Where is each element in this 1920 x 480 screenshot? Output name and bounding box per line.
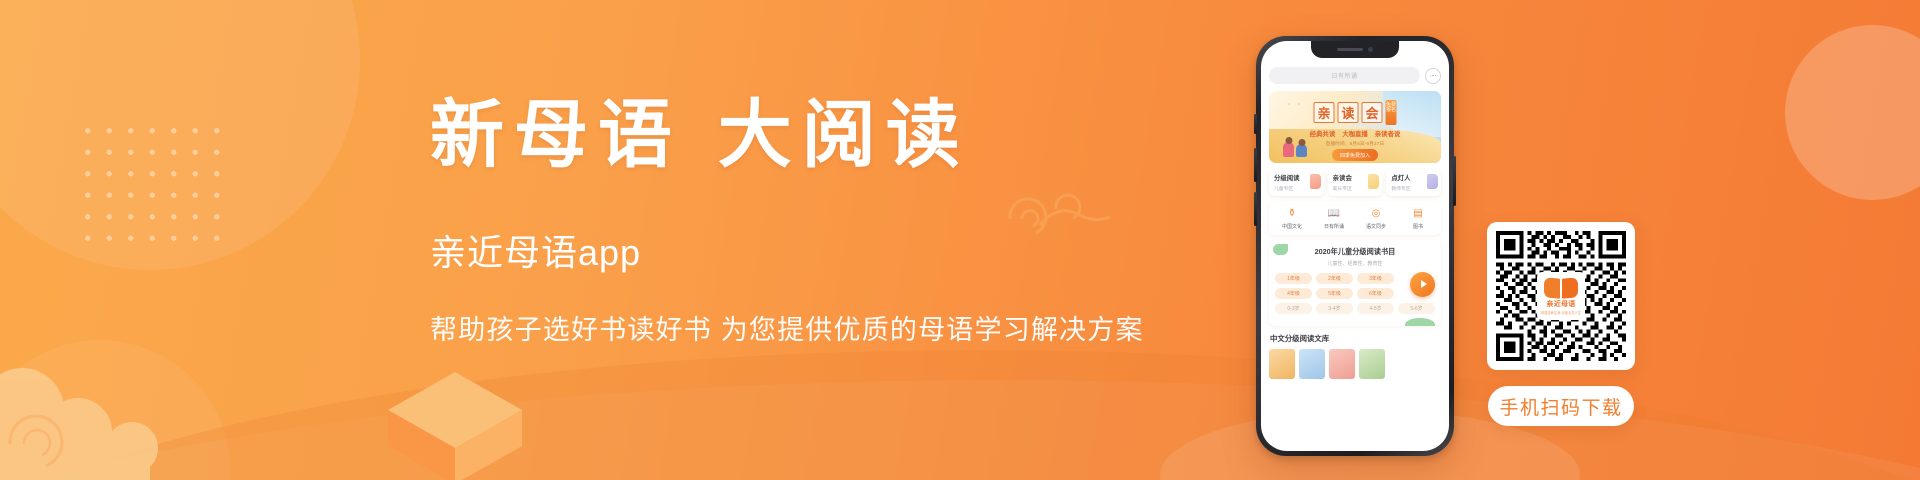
hero-promo-card[interactable]: ⌃ ⌃ 亲 读 会 免费报名 经典共读 大咖直播 亲读者说 直播时间：9月6日-… — [1269, 91, 1441, 163]
kid-figure-1 — [1283, 142, 1294, 157]
hero-illustration-kids — [1283, 142, 1307, 157]
brand-slogan: 母语滋养生命 阅读点亮人生 — [1541, 310, 1581, 315]
decorative-circle-top-right — [1785, 25, 1920, 200]
age-pill[interactable]: 0-3岁 — [1275, 303, 1312, 314]
reading-list-subtitle: 儿童性、经典性、教育性 — [1275, 260, 1435, 267]
quick-icon-chinese-culture[interactable]: ⚱ 中国文化 — [1271, 207, 1313, 230]
reading-list-title: 2020年儿童分级阅读书目 — [1275, 247, 1435, 257]
hero-subtitle-3: 亲读者说 — [1375, 129, 1401, 138]
book-cover[interactable] — [1299, 349, 1325, 379]
category-badge-icon — [1310, 174, 1321, 189]
grade-pill[interactable]: 4年级 — [1275, 288, 1312, 299]
grade-pill[interactable]: 1年级 — [1275, 273, 1312, 284]
tagline-text: 帮助孩子选好书读好书 为您提供优质的母语学习解决方案 — [430, 308, 1260, 347]
category-card-graded-reading[interactable]: 分级阅读 儿童专区 — [1269, 169, 1324, 196]
quick-icon-language-sync[interactable]: ◎ 语文同步 — [1355, 207, 1397, 230]
search-input[interactable]: 日有所诵 — [1269, 67, 1420, 84]
qr-center-logo: 亲近母语 母语滋养生命 阅读点亮人生 — [1537, 272, 1585, 320]
hero-title-char-3: 会 — [1362, 102, 1383, 123]
phone-screen: 日有所诵 ⌃ ⌃ 亲 读 会 免费报名 经典共读 — [1261, 41, 1449, 451]
phone-mockup: 日有所诵 ⌃ ⌃ 亲 读 会 免费报名 经典共读 — [1256, 36, 1454, 456]
qr-download-panel: 亲近母语 母语滋养生命 阅读点亮人生 手机扫码下载 — [1487, 222, 1635, 426]
list-icon: ▤ — [1412, 207, 1425, 220]
birds-icon: ⌃ ⌃ — [1287, 103, 1303, 109]
kid-figure-2 — [1296, 144, 1307, 157]
auspicious-cloud-icon — [0, 348, 230, 480]
reading-list-card: 2020年儿童分级阅读书目 儿童性、经典性、教育性 1年级 2年级 3年级 4年… — [1269, 240, 1441, 326]
hero-date-text: 直播时间：9月6日-9月27日 — [1326, 141, 1385, 147]
front-camera-icon — [1368, 47, 1373, 52]
hero-title-char-1: 亲 — [1314, 102, 1335, 123]
hero-cta-button[interactable]: 四季免费加入 — [1332, 149, 1378, 161]
book-page-right — [1562, 277, 1578, 298]
play-video-button[interactable] — [1410, 272, 1435, 297]
circle-target-icon: ◎ — [1370, 207, 1383, 220]
phone-power-button — [1453, 156, 1456, 206]
phone-mute-button — [1254, 114, 1257, 134]
quick-icon-label: 日有所诵 — [1324, 223, 1344, 230]
category-card-parent-club[interactable]: 亲读会 家长专区 — [1328, 169, 1383, 196]
book-cover[interactable] — [1329, 349, 1355, 379]
category-card-teacher[interactable]: 点灯人 教师专区 — [1386, 169, 1441, 196]
phone-notch — [1311, 41, 1399, 58]
age-pill[interactable]: 5-6岁 — [1398, 303, 1435, 314]
brand-name: 亲近母语 — [1546, 299, 1575, 309]
book-cover[interactable] — [1359, 349, 1385, 379]
category-badge-icon — [1427, 174, 1438, 189]
isometric-cube-decoration — [380, 364, 530, 480]
category-badge-icon — [1368, 174, 1379, 189]
book-page-left — [1544, 277, 1560, 298]
scan-download-label: 手机扫码下载 — [1499, 393, 1622, 420]
app-name-label: 亲近母语app — [430, 224, 1260, 276]
hero-subtitles: 经典共读 大咖直播 亲读者说 — [1310, 129, 1401, 138]
book-cover-strip — [1269, 349, 1441, 379]
book-icon: 📖 — [1328, 207, 1341, 220]
hero-subtitle-1: 经典共读 — [1310, 129, 1336, 138]
grade-pill[interactable]: 3年级 — [1357, 273, 1394, 284]
promo-banner: 新母语 大阅读 亲近母语app 帮助孩子选好书读好书 为您提供优质的母语学习解决… — [0, 0, 1920, 480]
quick-icon-daily-recitation[interactable]: 📖 日有所诵 — [1313, 207, 1355, 230]
age-pill[interactable]: 4-5岁 — [1357, 303, 1394, 314]
decorative-circle-top-left — [0, 0, 360, 270]
quick-icon-books[interactable]: ▤ 图书 — [1397, 207, 1439, 230]
vase-icon: ⚱ — [1286, 207, 1299, 220]
book-cover[interactable] — [1269, 349, 1295, 379]
hero-ribbon-badge: 免费报名 — [1386, 100, 1397, 125]
quick-icon-label: 图书 — [1413, 223, 1423, 230]
phone-volume-down-button — [1254, 192, 1257, 226]
leaf-decoration-top-left — [1273, 244, 1288, 255]
grade-pill[interactable]: 6年级 — [1357, 288, 1394, 299]
scan-download-button[interactable]: 手机扫码下载 — [1488, 386, 1634, 426]
grade-pill[interactable]: 5年级 — [1316, 288, 1353, 299]
app-search-row: 日有所诵 — [1269, 67, 1441, 84]
leaf-decoration-bottom-right — [1405, 318, 1435, 326]
grade-pill-area: 1年级 2年级 3年级 4年级 5年级 6年级 0-3岁 — [1275, 273, 1435, 314]
open-book-icon — [1544, 278, 1578, 298]
quick-icon-label: 语文同步 — [1366, 223, 1386, 230]
dot-grid-pattern — [77, 120, 229, 250]
quick-access-row: ⚱ 中国文化 📖 日有所诵 ◎ 语文同步 ▤ 图书 — [1269, 201, 1441, 235]
phone-volume-up-button — [1254, 148, 1257, 182]
search-placeholder: 日有所诵 — [1331, 71, 1357, 80]
library-section-title: 中文分级阅读文库 — [1269, 333, 1441, 344]
qr-code-card: 亲近母语 母语滋养生命 阅读点亮人生 — [1487, 222, 1635, 370]
age-pill-row: 0-3岁 3-4岁 4-5岁 5-6岁 — [1275, 303, 1435, 314]
hero-subtitle-2: 大咖直播 — [1342, 129, 1368, 138]
age-pill[interactable]: 3-4岁 — [1316, 303, 1353, 314]
message-icon[interactable] — [1425, 68, 1441, 84]
hero-title-char-2: 读 — [1338, 102, 1359, 123]
play-triangle-icon — [1421, 280, 1427, 288]
decorative-circle-bottom-left — [0, 340, 230, 480]
category-card-row: 分级阅读 儿童专区 亲读会 家长专区 点灯人 教师专区 — [1269, 169, 1441, 196]
grade-pill[interactable]: 2年级 — [1316, 273, 1353, 284]
page-title: 新母语 大阅读 — [430, 96, 1260, 176]
hero-title: 亲 读 会 免费报名 — [1314, 100, 1397, 125]
quick-icon-label: 中国文化 — [1282, 223, 1302, 230]
copy-block: 新母语 大阅读 亲近母语app 帮助孩子选好书读好书 为您提供优质的母语学习解决… — [430, 96, 1260, 347]
earpiece-speaker — [1337, 48, 1363, 51]
